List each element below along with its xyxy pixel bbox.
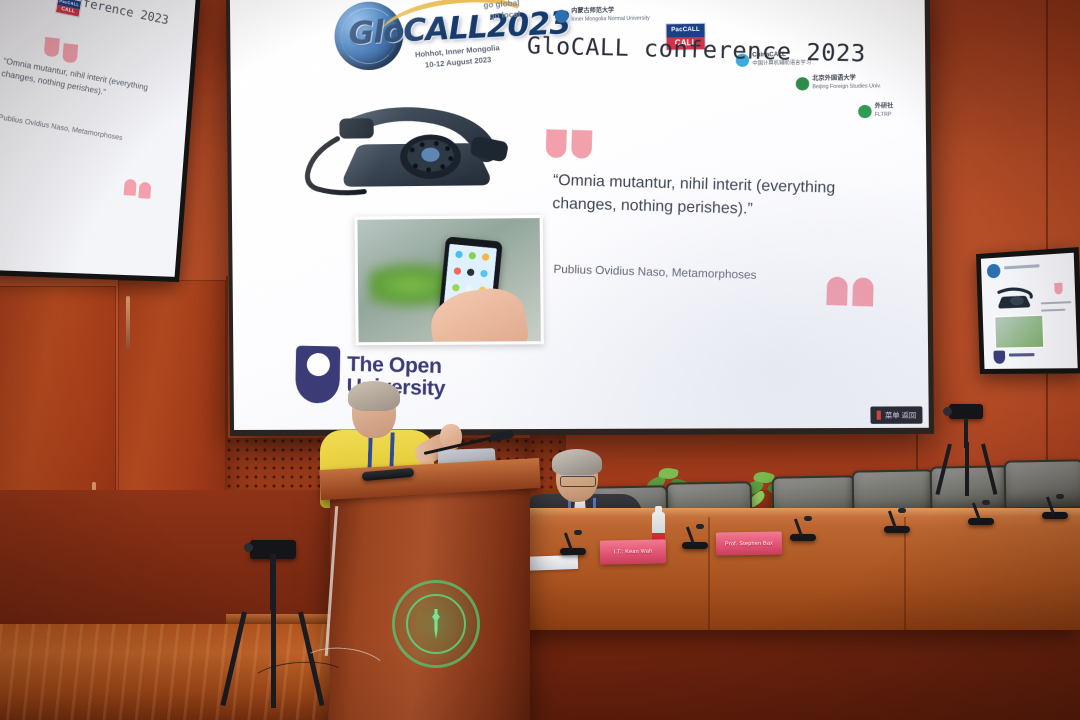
left-monitor-quote-mark-icon	[62, 43, 78, 63]
right-monitor-logo-icon	[987, 264, 1001, 279]
left-monitor-attribution: Publius Ovidius Naso, Metamorphoses	[0, 114, 161, 149]
door-handle-icon	[126, 296, 130, 348]
table-microphone	[968, 518, 994, 525]
presentation-slide: GloCALL2023 go global go local Hohhot, I…	[230, 0, 929, 430]
conference-chair[interactable]	[1004, 459, 1080, 505]
table-microphone	[560, 548, 586, 555]
nameplate: Prof. Stephen Bax	[716, 531, 782, 555]
smartphone-photo	[354, 215, 544, 345]
left-monitor-screen: GloCALL conference 2023 “Omnia mutantur,…	[0, 0, 196, 277]
university-emblem-icon	[392, 580, 480, 668]
right-monitor-quote-mark-icon	[1054, 283, 1063, 295]
sponsor-mark-icon	[796, 77, 810, 90]
projector-osd-badge: 菜单 返回	[870, 406, 922, 424]
left-monitor-quote-mark-icon	[124, 179, 137, 196]
sponsor-logo-4: 北京外国语大学 Beijing Foreign Studies Univ.	[796, 75, 881, 90]
glasses-icon	[560, 476, 596, 487]
speaker-hair	[348, 381, 400, 411]
paccall-top-label: PacCALL	[667, 24, 705, 37]
vintage-telephone-image	[293, 92, 526, 211]
left-monitor-quote-mark-icon	[138, 182, 151, 199]
sponsor-4-name-en: Beijing Foreign Studies Univ.	[812, 83, 881, 90]
osd-label: 菜单 返回	[885, 410, 916, 420]
left-monitor-quote: “Omnia mutantur, nihil interit (everythi…	[0, 55, 166, 109]
table-top-edge	[506, 508, 1080, 517]
right-monitor-title-line	[1004, 264, 1039, 269]
video-camera-tripod-right	[944, 404, 988, 496]
table-seam	[904, 517, 906, 630]
video-camera-icon	[949, 404, 983, 419]
left-monitor-quote-mark-icon	[44, 37, 60, 57]
wall-highlight	[940, 0, 1044, 470]
right-confidence-monitor	[976, 247, 1080, 374]
table-microphone	[790, 534, 816, 541]
table-microphone	[682, 542, 708, 549]
glocall-event-logo: GloCALL2023 go global go local Hohhot, I…	[326, 0, 529, 85]
sponsor-mark-icon	[858, 104, 872, 117]
osd-indicator-icon	[877, 411, 881, 420]
slide-quote-text: “Omnia mutantur, nihil interit (everythi…	[552, 169, 862, 225]
event-logo-tagline: go global go local	[484, 0, 521, 23]
right-monitor-text-line	[1041, 309, 1065, 312]
left-confidence-monitor: GloCALL conference 2023 “Omnia mutantur,…	[0, 0, 201, 282]
left-monitor-sponsor-icon: PacCALL CALL	[55, 0, 82, 18]
rotary-phone-icon	[293, 92, 526, 211]
auditorium-scene: GloCALL2023 go global go local Hohhot, I…	[0, 0, 1080, 720]
nameplate: I.T.: Kean Wah	[600, 539, 666, 564]
open-quote-mark-icon	[546, 129, 593, 158]
table-seam	[708, 517, 710, 630]
right-monitor-ou-icon	[993, 351, 1005, 364]
table-microphone	[884, 526, 910, 533]
slide-title: GloCALL conference 2023	[527, 33, 867, 67]
wall-door-left-b	[118, 280, 226, 524]
head-table	[506, 508, 1080, 630]
projection-screen: GloCALL2023 go global go local Hohhot, I…	[226, 0, 934, 436]
sponsor-5-name-en: FLTRP	[875, 111, 892, 117]
right-monitor-phone-icon	[991, 286, 1037, 312]
right-monitor-text-line	[1041, 301, 1072, 305]
right-monitor-screen	[981, 253, 1078, 369]
sponsor-1-name-en: Inner Mongolia Normal University	[571, 15, 649, 22]
slide-quote-attribution: Publius Ovidius Naso, Metamorphoses	[553, 264, 862, 285]
right-monitor-ou-line	[1009, 353, 1035, 356]
bottle-cap	[655, 506, 662, 513]
right-monitor-photo	[994, 315, 1044, 349]
wall-seam	[1046, 0, 1048, 470]
left-monitor-title: GloCALL conference 2023	[0, 0, 170, 27]
nameplate-text: I.T.: Kean Wah	[614, 549, 653, 556]
nameplate-text: Prof. Stephen Bax	[725, 540, 773, 547]
sponsor-mark-icon	[555, 9, 568, 22]
sponsor-logo-1: 内蒙古师范大学 Inner Mongolia Normal University	[555, 7, 650, 23]
table-microphone	[1042, 512, 1068, 519]
chairperson-hair	[552, 449, 602, 475]
sponsor-logo-5: 外研社 FLTRP	[858, 104, 893, 119]
ou-logo-line-1: The Open	[347, 354, 446, 378]
